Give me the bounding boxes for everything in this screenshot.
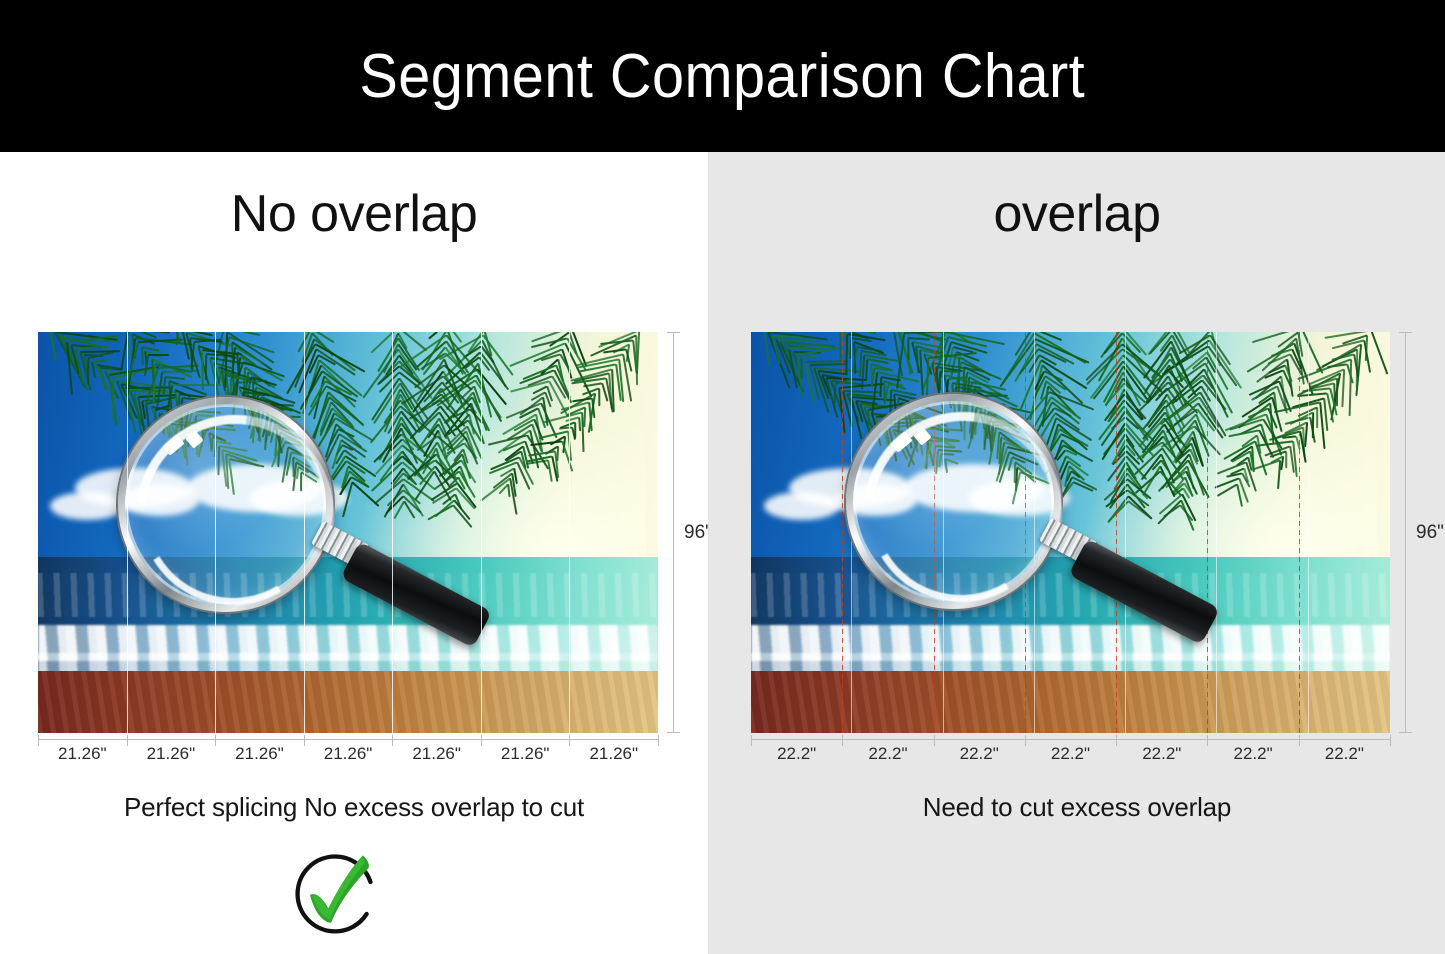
segment-width-label: 21.26" bbox=[215, 744, 304, 764]
butt-seam-line bbox=[481, 332, 482, 733]
segment-width-label: 22.2" bbox=[1207, 744, 1298, 764]
dimension-tick bbox=[1025, 735, 1026, 746]
segment-label-row-left: 21.26"21.26"21.26"21.26"21.26"21.26"21.2… bbox=[38, 744, 658, 764]
dimension-tick bbox=[751, 735, 752, 746]
panel-overlap: overlap bbox=[708, 152, 1445, 954]
segment-dimension-right: 22.2"22.2"22.2"22.2"22.2"22.2"22.2" bbox=[751, 735, 1390, 769]
overlap-seam-edge bbox=[851, 332, 852, 733]
butt-seam-line bbox=[127, 332, 128, 733]
segment-width-label: 21.26" bbox=[392, 744, 481, 764]
segment-width-label: 22.2" bbox=[1025, 744, 1116, 764]
dimension-tick bbox=[569, 735, 570, 746]
dimension-tick bbox=[1299, 735, 1300, 746]
segment-dimension-left: 21.26"21.26"21.26"21.26"21.26"21.26"21.2… bbox=[38, 735, 658, 769]
panel-no-overlap: No overlap bbox=[0, 152, 708, 954]
segment-width-label: 22.2" bbox=[751, 744, 842, 764]
segment-width-label: 22.2" bbox=[1116, 744, 1207, 764]
butt-seam-line bbox=[215, 332, 216, 733]
caption-right: Need to cut excess overlap bbox=[709, 792, 1445, 823]
overlap-seam-line bbox=[1025, 332, 1026, 733]
segment-width-label: 21.26" bbox=[304, 744, 393, 764]
green-check-icon bbox=[287, 844, 383, 940]
mural-preview-right bbox=[751, 332, 1390, 733]
dimension-tick bbox=[842, 735, 843, 746]
segment-width-label: 21.26" bbox=[38, 744, 127, 764]
butt-seam-line bbox=[304, 332, 305, 733]
dimension-cap bbox=[1399, 332, 1412, 333]
segment-label-row-right: 22.2"22.2"22.2"22.2"22.2"22.2"22.2" bbox=[751, 744, 1390, 764]
overlap-seam-edge bbox=[1125, 332, 1126, 733]
dimension-tick bbox=[1207, 735, 1208, 746]
segment-width-label: 21.26" bbox=[127, 744, 216, 764]
beach-mural-image-left bbox=[38, 332, 658, 733]
dimension-tick bbox=[392, 735, 393, 746]
height-label-right: 96" bbox=[1416, 522, 1444, 544]
beach-mural-image-right bbox=[751, 332, 1390, 733]
butt-seam-line bbox=[569, 332, 570, 733]
segment-seams-left bbox=[38, 332, 658, 733]
segment-width-label: 22.2" bbox=[1299, 744, 1390, 764]
segment-width-label: 22.2" bbox=[842, 744, 933, 764]
dimension-cap bbox=[667, 332, 680, 333]
dimension-tick bbox=[304, 735, 305, 746]
dimension-line bbox=[751, 739, 1390, 740]
segment-width-label: 21.26" bbox=[481, 744, 570, 764]
dimension-line bbox=[38, 739, 658, 740]
segment-width-label: 21.26" bbox=[569, 744, 658, 764]
overlap-seam-edge bbox=[1308, 332, 1309, 733]
overlap-seam-line bbox=[1116, 332, 1117, 733]
dimension-tick bbox=[38, 735, 39, 746]
dimension-tick bbox=[934, 735, 935, 746]
header-bar: Segment Comparison Chart bbox=[0, 0, 1445, 152]
overlap-seam-edge bbox=[943, 332, 944, 733]
dimension-tick bbox=[127, 735, 128, 746]
dimension-tick bbox=[1390, 735, 1391, 746]
overlap-seam-edge bbox=[1216, 332, 1217, 733]
dimension-line bbox=[673, 332, 674, 733]
dimension-line bbox=[1405, 332, 1406, 733]
comparison-panels: No overlap bbox=[0, 152, 1445, 954]
height-dimension-right: 96" bbox=[1398, 332, 1432, 733]
mural-preview-left bbox=[38, 332, 658, 733]
segment-seams-right bbox=[751, 332, 1390, 733]
dimension-tick bbox=[658, 735, 659, 746]
overlap-seam-edge bbox=[1034, 332, 1035, 733]
overlap-seam-line bbox=[1207, 332, 1208, 733]
overlap-seam-line bbox=[934, 332, 935, 733]
dimension-cap bbox=[1399, 732, 1412, 733]
overlap-seam-line bbox=[1299, 332, 1300, 733]
dimension-tick bbox=[1116, 735, 1117, 746]
page-title: Segment Comparison Chart bbox=[360, 41, 1086, 112]
segment-width-label: 22.2" bbox=[934, 744, 1025, 764]
dimension-cap bbox=[667, 732, 680, 733]
panel-right-heading: overlap bbox=[709, 184, 1445, 244]
height-dimension-left: 96" bbox=[666, 332, 700, 733]
dimension-tick bbox=[215, 735, 216, 746]
dimension-tick bbox=[481, 735, 482, 746]
overlap-seam-line bbox=[842, 332, 843, 733]
butt-seam-line bbox=[392, 332, 393, 733]
